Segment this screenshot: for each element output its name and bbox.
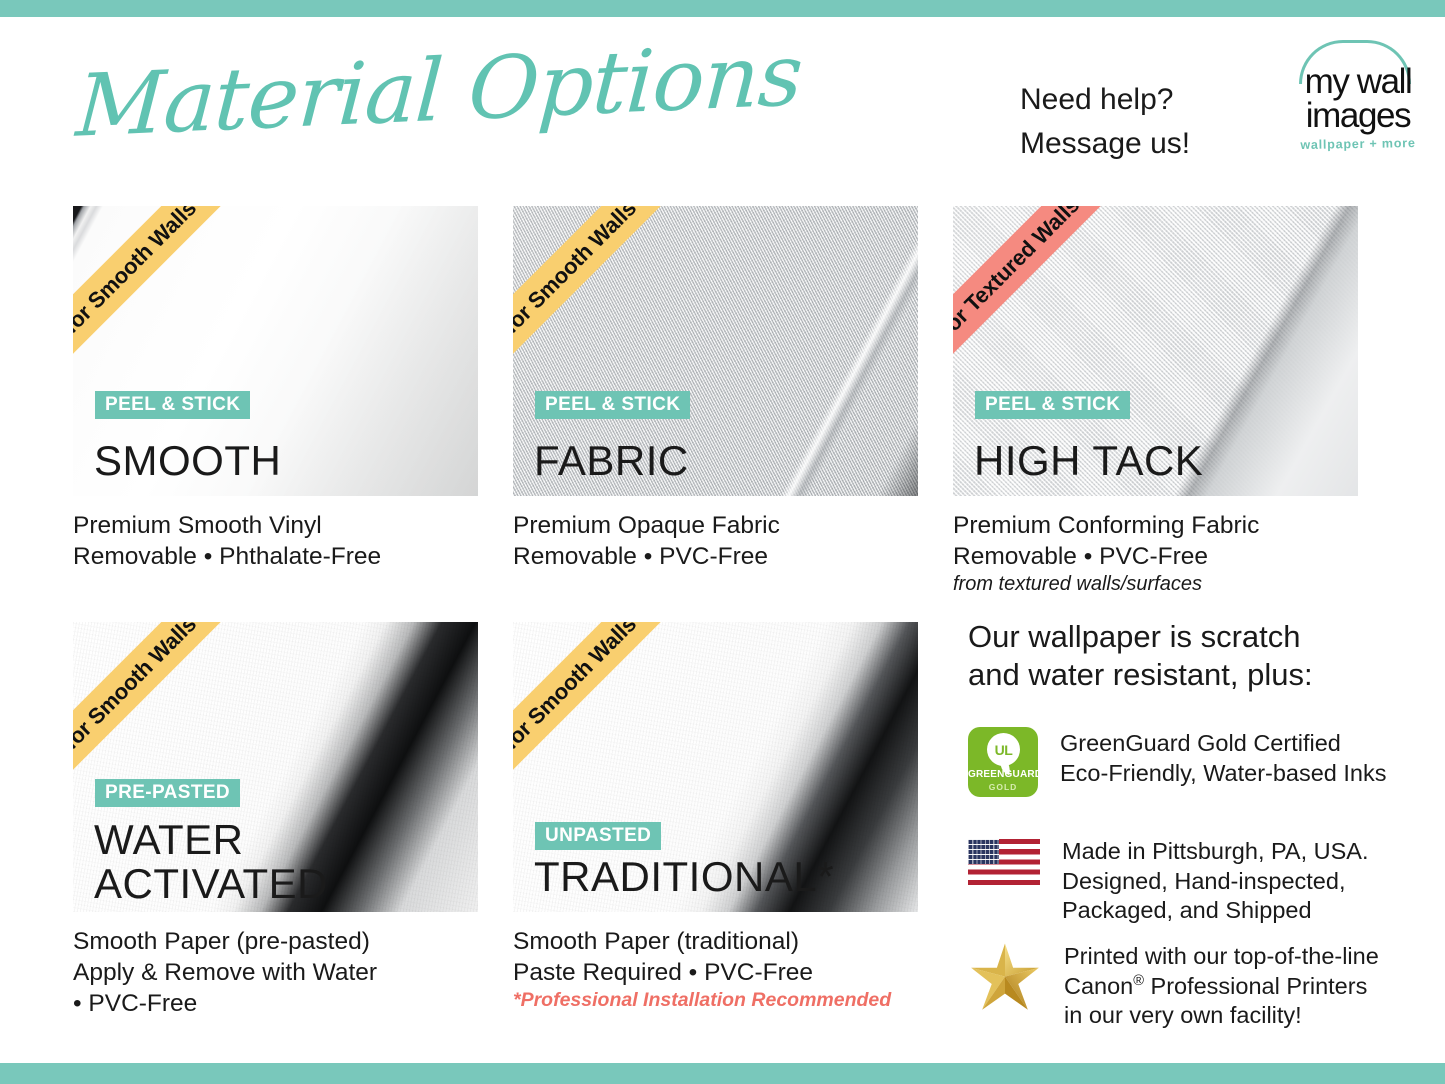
- registered-mark: ®: [1133, 973, 1144, 989]
- feature-greenguard: UL GREENGUARD GOLD GreenGuard Gold Certi…: [968, 727, 1387, 797]
- material-description: Premium Conforming Fabric Removable • PV…: [953, 510, 1358, 572]
- brand-logo: my wall images wallpaper + more: [1283, 38, 1433, 173]
- top-accent-bar: [0, 0, 1445, 17]
- feature-made-in-usa: Made in Pittsburgh, PA, USA. Designed, H…: [968, 835, 1369, 926]
- feature-text: Printed with our top-of-the-line Canon® …: [1064, 940, 1379, 1031]
- material-options-page: Material Options Need help? Message us! …: [0, 0, 1445, 1084]
- material-photo-high-tack: for Textured Walls PEEL & STICK HIGH TAC…: [953, 206, 1358, 496]
- material-card-traditional: for Smooth Walls UNPASTED TRADITIONAL* S…: [513, 622, 918, 1012]
- feature-text: GreenGuard Gold Certified Eco-Friendly, …: [1060, 727, 1387, 788]
- material-note: from textured walls/surfaces: [953, 573, 1358, 596]
- material-description: Smooth Paper (pre-pasted) Apply & Remove…: [73, 926, 478, 1019]
- logo-line-2: images: [1283, 98, 1433, 133]
- material-name: HIGH TACK: [974, 439, 1203, 484]
- badge-peel-and-stick: PEEL & STICK: [535, 391, 690, 419]
- material-photo-water-activated: for Smooth Walls PRE-PASTED WATER ACTIVA…: [73, 622, 478, 912]
- info-heading: Our wallpaper is scratch and water resis…: [968, 618, 1388, 694]
- flag-union-stars: [968, 839, 999, 864]
- logo-line-1: my wall: [1283, 64, 1433, 99]
- logo-tagline: wallpaper + more: [1283, 136, 1433, 153]
- material-photo-fabric: for Smooth Walls PEEL & STICK FABRIC: [513, 206, 918, 496]
- need-help-text: Need help? Message us!: [1020, 78, 1265, 165]
- material-card-water-activated: for Smooth Walls PRE-PASTED WATER ACTIVA…: [73, 622, 478, 1019]
- material-name: WATER ACTIVATED: [94, 818, 328, 907]
- material-description: Premium Opaque Fabric Removable • PVC-Fr…: [513, 510, 918, 572]
- material-card-smooth: for Smooth Walls PEEL & STICK SMOOTH Pre…: [73, 206, 478, 572]
- bottom-accent-bar: [0, 1063, 1445, 1084]
- material-description: Smooth Paper (traditional) Paste Require…: [513, 926, 918, 988]
- greenguard-label: GREENGUARD: [968, 769, 1038, 780]
- material-name: SMOOTH: [94, 439, 281, 484]
- material-note: *Professional Installation Recommended: [513, 989, 918, 1012]
- material-name: FABRIC: [534, 439, 689, 484]
- badge-peel-and-stick: PEEL & STICK: [975, 391, 1130, 419]
- material-card-fabric: for Smooth Walls PEEL & STICK FABRIC Pre…: [513, 206, 918, 572]
- material-card-high-tack: for Textured Walls PEEL & STICK HIGH TAC…: [953, 206, 1358, 596]
- material-name: TRADITIONAL*: [534, 855, 834, 900]
- gold-level-label: GOLD: [968, 782, 1038, 792]
- feature-text: Made in Pittsburgh, PA, USA. Designed, H…: [1062, 835, 1369, 926]
- material-photo-smooth: for Smooth Walls PEEL & STICK SMOOTH: [73, 206, 478, 496]
- badge-pre-pasted: PRE-PASTED: [95, 779, 240, 807]
- greenguard-gold-badge-icon: UL GREENGUARD GOLD: [968, 727, 1038, 797]
- material-description: Premium Smooth Vinyl Removable • Phthala…: [73, 510, 478, 572]
- badge-unpasted: UNPASTED: [535, 822, 661, 850]
- gold-star-icon: [968, 942, 1042, 1012]
- feature-canon-printers: Printed with our top-of-the-line Canon® …: [968, 940, 1379, 1031]
- badge-peel-and-stick: PEEL & STICK: [95, 391, 250, 419]
- page-title: Material Options: [74, 32, 804, 149]
- material-photo-traditional: for Smooth Walls UNPASTED TRADITIONAL*: [513, 622, 918, 912]
- usa-flag-icon: [968, 839, 1040, 885]
